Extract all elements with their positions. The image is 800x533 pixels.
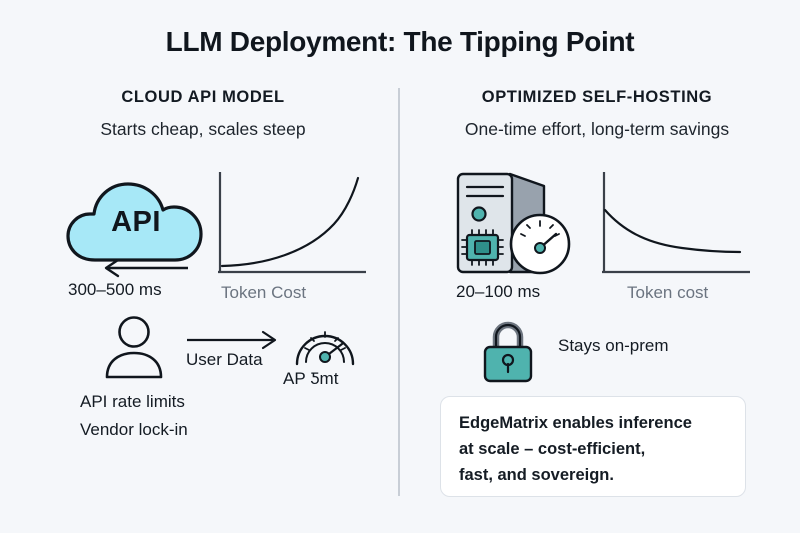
cloud-api-column: CLOUD API MODEL Starts cheap, scales ste…: [8, 88, 398, 518]
user-data-arrow-icon: [185, 330, 285, 350]
user-data-label: User Data: [186, 350, 263, 370]
callout-line-2: at scale – cost-efficient,: [459, 436, 727, 462]
self-host-latency-label: 20–100 ms: [456, 282, 540, 302]
callout-line-1: EdgeMatrix enables inference: [459, 410, 727, 436]
cloud-drawback-1: API rate limits: [80, 392, 185, 412]
self-host-chart-caption: Token cost: [627, 283, 708, 303]
latency-gauge-icon: [292, 316, 358, 372]
infographic-root: LLM Deployment: The Tipping Point CLOUD …: [0, 0, 800, 533]
lock-icon: [479, 316, 537, 384]
cloud-api-heading: CLOUD API MODEL: [8, 88, 398, 107]
latency-arrow-left-icon: [96, 258, 192, 278]
self-host-token-cost-chart: [600, 172, 752, 278]
self-hosting-heading: OPTIMIZED SELF-HOSTING: [402, 88, 792, 107]
cloud-token-cost-chart: [216, 172, 368, 278]
callout-line-3: fast, and sovereign.: [459, 462, 727, 488]
cloud-api-subheading: Starts cheap, scales steep: [8, 119, 398, 140]
on-prem-label: Stays on-prem: [558, 336, 669, 356]
gauge-caption: AP Ƽmt: [283, 369, 338, 389]
cloud-drawback-2: Vendor lock-in: [80, 420, 188, 440]
page-title: LLM Deployment: The Tipping Point: [0, 26, 800, 58]
column-divider: [398, 88, 400, 496]
cloud-latency-label: 300–500 ms: [68, 280, 162, 300]
cloud-chart-caption: Token Cost: [221, 283, 306, 303]
server-icon: [448, 168, 582, 280]
self-hosting-subheading: One-time effort, long-term savings: [402, 119, 792, 140]
cloud-icon: API: [62, 168, 210, 268]
edgematrix-callout: EdgeMatrix enables inference at scale – …: [440, 396, 746, 497]
user-icon: [100, 314, 168, 380]
